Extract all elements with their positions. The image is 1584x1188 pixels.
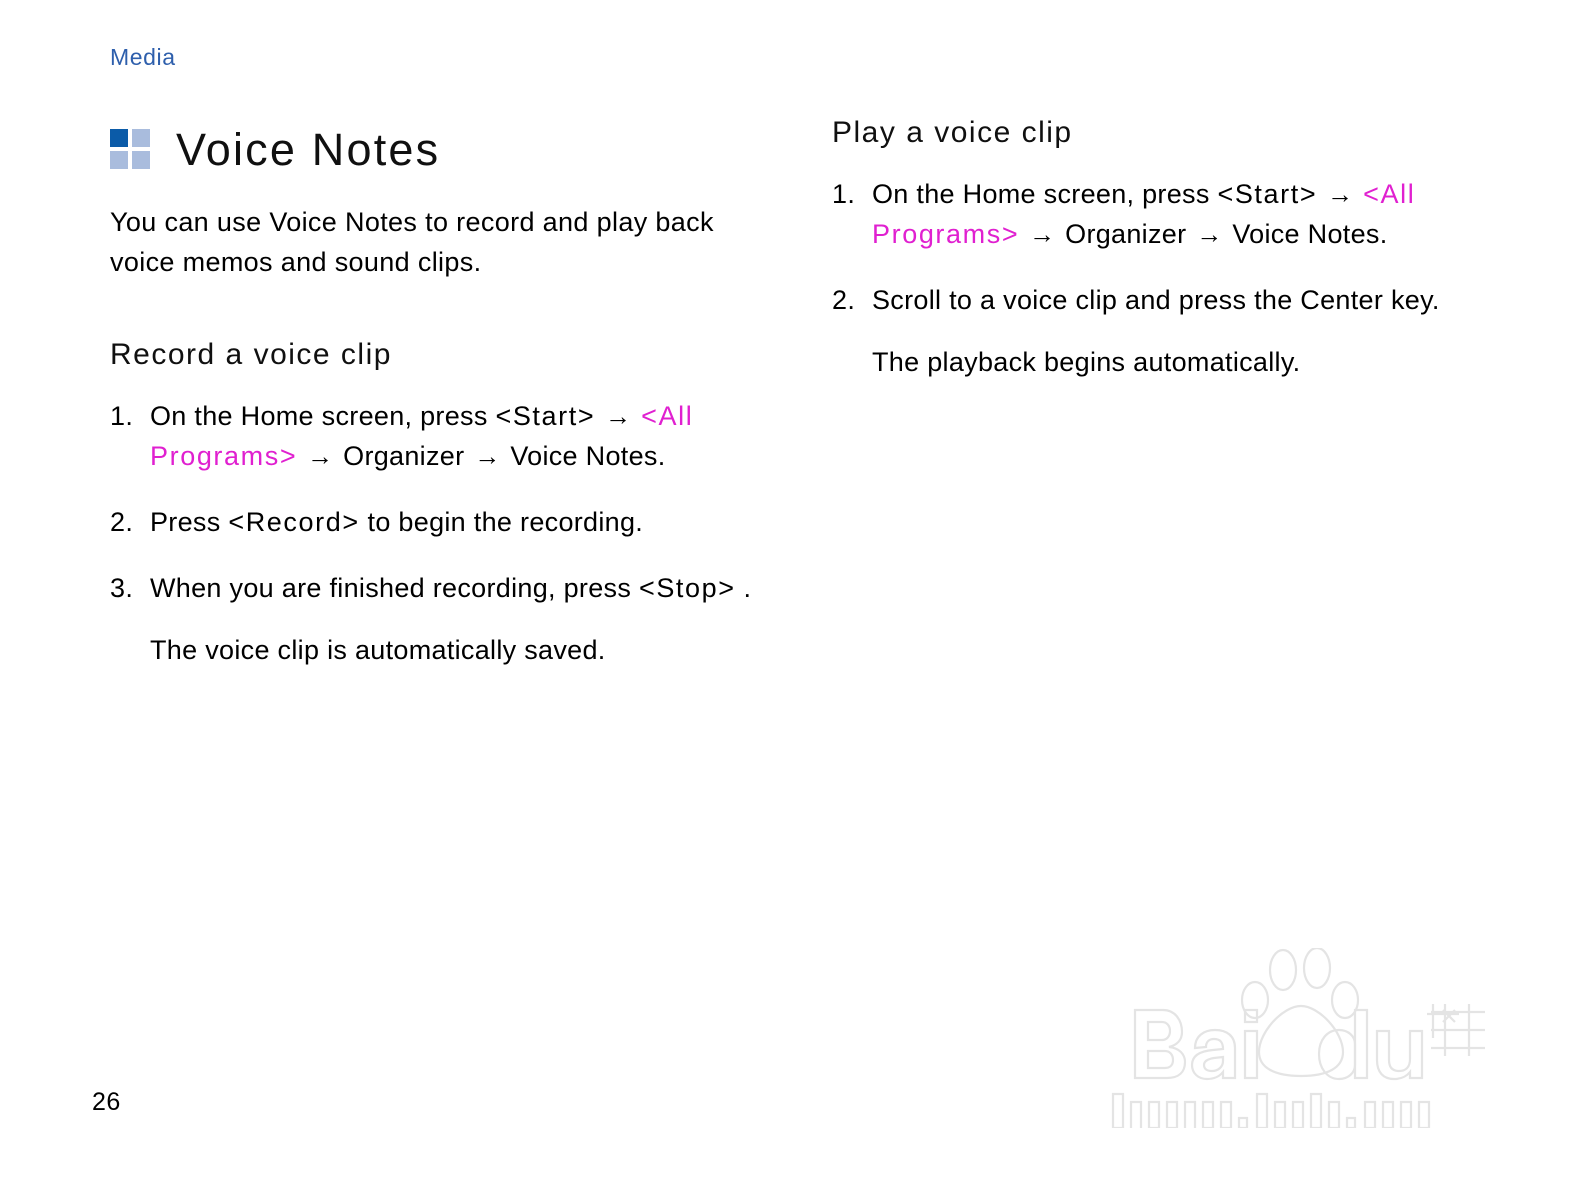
arrow-icon: → [1027,219,1057,249]
step-text-run: Organizer [343,441,472,471]
chapter-title-row: Voice Notes [110,118,760,180]
step-number: 3. [110,568,133,608]
softkey-label: <Start> [495,401,595,431]
left-column: Voice Notes You can use Voice Notes to r… [110,118,760,670]
step-note: The voice clip is automatically saved. [150,630,760,670]
arrow-icon: → [305,441,335,471]
grid-square-top-right [132,129,150,147]
record-steps-list: 1.On the Home screen, press <Start> → <A… [110,396,760,670]
arrow-icon: → [472,441,502,471]
step-text-run: Scroll to a voice clip and press the Cen… [872,285,1440,315]
list-item: 3.When you are finished recording, press… [110,568,760,670]
arrow-icon: → [1194,219,1224,249]
step-number: 2. [832,280,855,320]
step-text-run: On the Home screen, press [872,179,1217,209]
intro-paragraph: You can use Voice Notes to record and pl… [110,202,730,282]
step-text-run: When you are finished recording, press [150,573,639,603]
step-text: On the Home screen, press <Start> → <All… [872,179,1415,249]
grid-square-bottom-left [110,151,128,169]
list-item: 1.On the Home screen, press <Start> → <A… [832,174,1492,254]
step-number: 2. [110,502,133,542]
arrow-icon: → [1325,179,1355,209]
arrow-icon: → [603,401,633,431]
four-square-grid-icon [110,129,150,169]
list-item: 1.On the Home screen, press <Start> → <A… [110,396,760,476]
play-steps-list: 1.On the Home screen, press <Start> → <A… [832,174,1492,382]
document-page: Media Voice Notes You can use Voice Note… [0,0,1584,1188]
step-text: When you are finished recording, press <… [150,573,751,603]
softkey-label: <Record> [228,507,359,537]
page-title: Voice Notes [176,127,440,172]
section-heading-play: Play a voice clip [832,118,1492,148]
section-heading-record: Record a voice clip [110,340,760,370]
list-item: 2.Scroll to a voice clip and press the C… [832,280,1492,382]
step-text-run: Voice Notes. [1232,219,1387,249]
step-text-run: Press [150,507,228,537]
step-text: Press <Record> to begin the recording. [150,507,643,537]
step-note: The playback begins automatically. [872,342,1492,382]
step-text-run: . [743,573,751,603]
page-number: 26 [92,1090,121,1115]
list-item: 2.Press <Record> to begin the recording. [110,502,760,542]
running-head: Media [110,46,176,69]
softkey-label: <Start> [1217,179,1317,209]
step-text-run: to begin the recording. [368,507,644,537]
grid-square-bottom-right [132,151,150,169]
step-number: 1. [832,174,855,214]
step-text-run: On the Home screen, press [150,401,495,431]
step-text-run: Organizer [1065,219,1194,249]
step-number: 1. [110,396,133,436]
step-text-run: Voice Notes. [510,441,665,471]
grid-square-top-left [110,129,128,147]
step-text: On the Home screen, press <Start> → <All… [150,401,693,471]
step-text: Scroll to a voice clip and press the Cen… [872,285,1440,315]
baidu-jingyan-watermark [1105,948,1495,1128]
softkey-label: <Stop> [639,573,736,603]
right-column: Play a voice clip 1.On the Home screen, … [832,118,1492,382]
